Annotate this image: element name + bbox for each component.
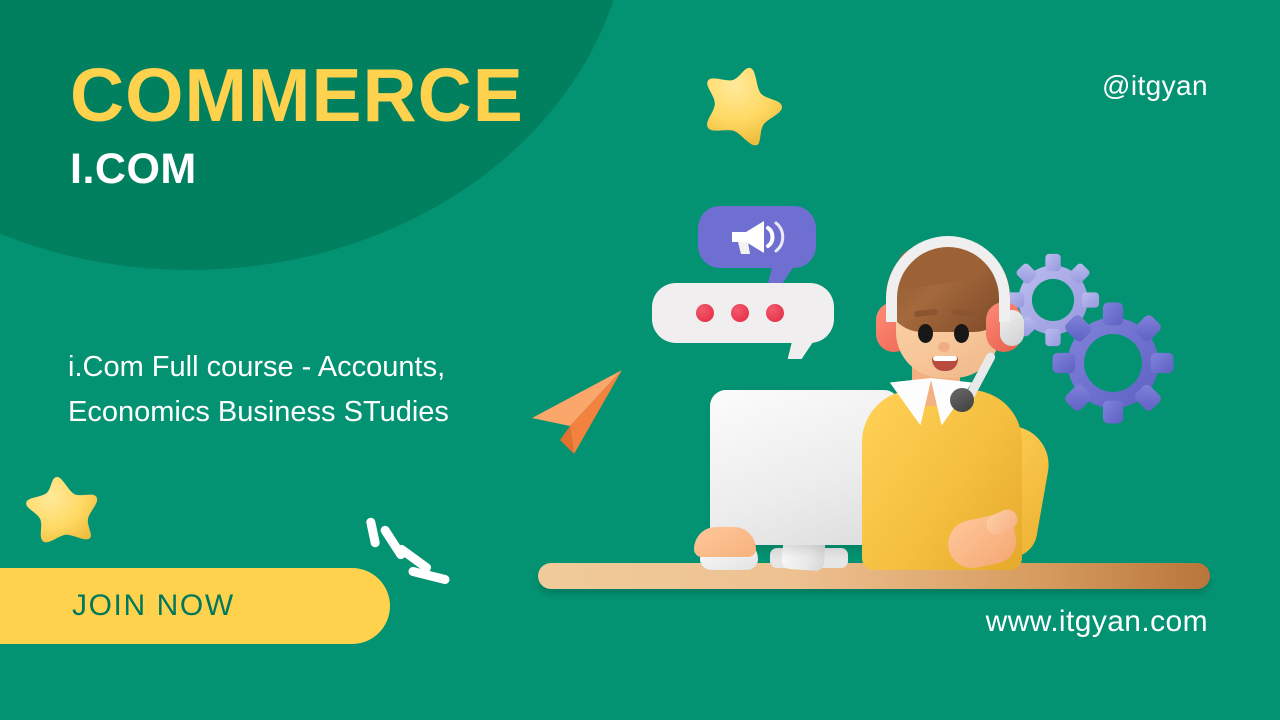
character-teeth (933, 356, 957, 361)
paper-plane-icon (526, 366, 626, 463)
star-icon (18, 466, 105, 550)
headphone-headband (886, 236, 1010, 322)
hand-on-mouse (694, 527, 756, 557)
star-icon (692, 53, 793, 151)
character-nose (938, 342, 950, 352)
headset-mic-tip (950, 388, 974, 412)
character-eye-right (954, 324, 969, 343)
website-url: www.itgyan.com (986, 605, 1208, 639)
join-now-label: JOIN NOW (72, 589, 235, 623)
megaphone-icon (728, 218, 786, 261)
support-agent-character (800, 230, 1100, 570)
promo-banner: COMMERCE I.COM i.Com Full course - Accou… (0, 0, 1280, 720)
character-eye-left (918, 324, 933, 343)
page-subtitle: I.COM (70, 148, 197, 191)
page-title: COMMERCE (70, 58, 524, 133)
announcement-bubble (698, 206, 816, 268)
join-now-button[interactable]: JOIN NOW (0, 568, 390, 644)
typing-dots-icon (696, 304, 784, 322)
course-description: i.Com Full course - Accounts, Economics … (68, 345, 488, 435)
social-handle: @itgyan (1102, 70, 1208, 102)
sparkle-lines-icon (352, 518, 452, 588)
